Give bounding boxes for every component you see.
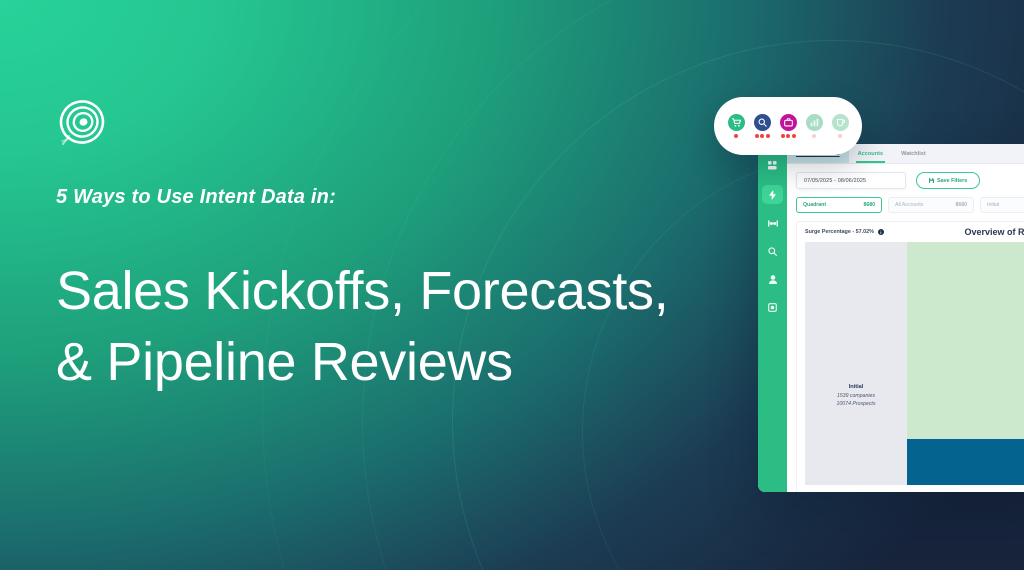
badge-dot bbox=[755, 134, 759, 138]
floppy-save-icon bbox=[929, 178, 934, 183]
eyebrow-text: 5 Ways to Use Intent Data in: bbox=[56, 186, 336, 209]
chip-initial[interactable]: Initial 1511 bbox=[980, 197, 1024, 213]
floating-icon-pillbar bbox=[714, 97, 862, 155]
badge-group bbox=[812, 134, 816, 138]
spiral-target-logo bbox=[56, 98, 108, 150]
badge-dot bbox=[760, 134, 764, 138]
quadrant-title: Initial bbox=[805, 383, 907, 392]
save-box-icon[interactable] bbox=[763, 299, 783, 316]
chip-value: 8680 bbox=[863, 202, 875, 208]
chart-bars-icon bbox=[806, 114, 823, 131]
filter-bar: 07/05/2025 - 08/06/2025 Save Filters bbox=[787, 164, 1024, 189]
pill-item-briefcase-search[interactable] bbox=[780, 114, 797, 138]
dashboard-screenshot: Active Accounts Accounts Watchlist 07/05… bbox=[758, 144, 1024, 492]
quadrant-engaged[interactable] bbox=[907, 439, 1024, 485]
pill-item-chart[interactable] bbox=[806, 114, 823, 138]
badge-dot bbox=[812, 134, 816, 138]
badge-dot bbox=[766, 134, 770, 138]
badge-group bbox=[734, 134, 738, 138]
tab-watchlist[interactable]: Watchlist bbox=[892, 144, 935, 163]
search-icon[interactable] bbox=[763, 243, 783, 260]
search-magnify-icon bbox=[754, 114, 771, 131]
save-filters-label: Save Filters bbox=[937, 178, 967, 184]
pill-item-shopping-cart[interactable] bbox=[728, 114, 745, 138]
save-filters-button[interactable]: Save Filters bbox=[916, 172, 980, 189]
chip-value: 8680 bbox=[955, 202, 967, 208]
badge-dot bbox=[781, 134, 785, 138]
quadrant-chart: Initial 1539 companies 10074 Prospects I… bbox=[805, 242, 1024, 485]
chip-label: Initial bbox=[987, 202, 999, 208]
chip-all-accounts[interactable]: All Accounts 8680 bbox=[888, 197, 974, 213]
pill-item-search[interactable] bbox=[754, 114, 771, 138]
surge-percentage-label: Surge Percentage - 57.02% bbox=[805, 229, 874, 235]
chip-label: All Accounts bbox=[895, 202, 923, 208]
badge-dot bbox=[786, 134, 790, 138]
filter-chips: Quadrant 8680 All Accounts 8680 Initial … bbox=[787, 189, 1024, 213]
badge-group bbox=[781, 134, 796, 138]
slide-canvas: 5 Ways to Use Intent Data in: Sales Kick… bbox=[0, 0, 1024, 576]
pill-item-cup[interactable] bbox=[832, 114, 849, 138]
chip-quadrant[interactable]: Quadrant 8680 bbox=[796, 197, 882, 213]
tab-accounts[interactable]: Accounts bbox=[849, 144, 893, 163]
badge-group bbox=[755, 134, 770, 138]
shopping-cart-icon bbox=[728, 114, 745, 131]
badge-dot bbox=[792, 134, 796, 138]
panel-title: Overview of Resear bbox=[964, 227, 1024, 237]
quadrant-panel: Surge Percentage - 57.02% i Overview of … bbox=[796, 221, 1024, 492]
quadrant-prospects: 10074 Prospects bbox=[805, 400, 907, 408]
quadrant-companies: 1539 companies bbox=[805, 392, 907, 400]
dashboard-main: Active Accounts Accounts Watchlist 07/05… bbox=[787, 144, 1024, 492]
dashboard-sidebar bbox=[758, 144, 787, 492]
headline-line-1: Sales Kickoffs, Forecasts, bbox=[56, 256, 716, 327]
cup-icon bbox=[832, 114, 849, 131]
badge-dot bbox=[838, 134, 842, 138]
lightning-bolt-icon[interactable] bbox=[762, 185, 783, 204]
quadrant-interested[interactable]: Intereste 6165 compa 39051 Prosp bbox=[907, 242, 1024, 439]
date-range-input[interactable]: 07/05/2025 - 08/06/2025 bbox=[796, 172, 906, 189]
badge-group bbox=[838, 134, 842, 138]
person-icon[interactable] bbox=[763, 271, 783, 288]
sliders-filter-icon[interactable] bbox=[763, 215, 783, 232]
quadrant-initial[interactable]: Initial 1539 companies 10074 Prospects bbox=[805, 242, 907, 485]
chip-label: Quadrant bbox=[803, 202, 826, 208]
page-title: Sales Kickoffs, Forecasts, & Pipeline Re… bbox=[56, 256, 716, 399]
headline-line-2: & Pipeline Reviews bbox=[56, 327, 716, 398]
info-icon[interactable]: i bbox=[878, 229, 884, 235]
badge-dot bbox=[734, 134, 738, 138]
briefcase-search-icon bbox=[780, 114, 797, 131]
grid-dashboard-icon[interactable] bbox=[763, 157, 783, 174]
slide-background: 5 Ways to Use Intent Data in: Sales Kick… bbox=[0, 0, 1024, 570]
quadrant-label: Initial 1539 companies 10074 Prospects bbox=[805, 383, 907, 408]
panel-header: Surge Percentage - 57.02% i Overview of … bbox=[797, 222, 1024, 242]
